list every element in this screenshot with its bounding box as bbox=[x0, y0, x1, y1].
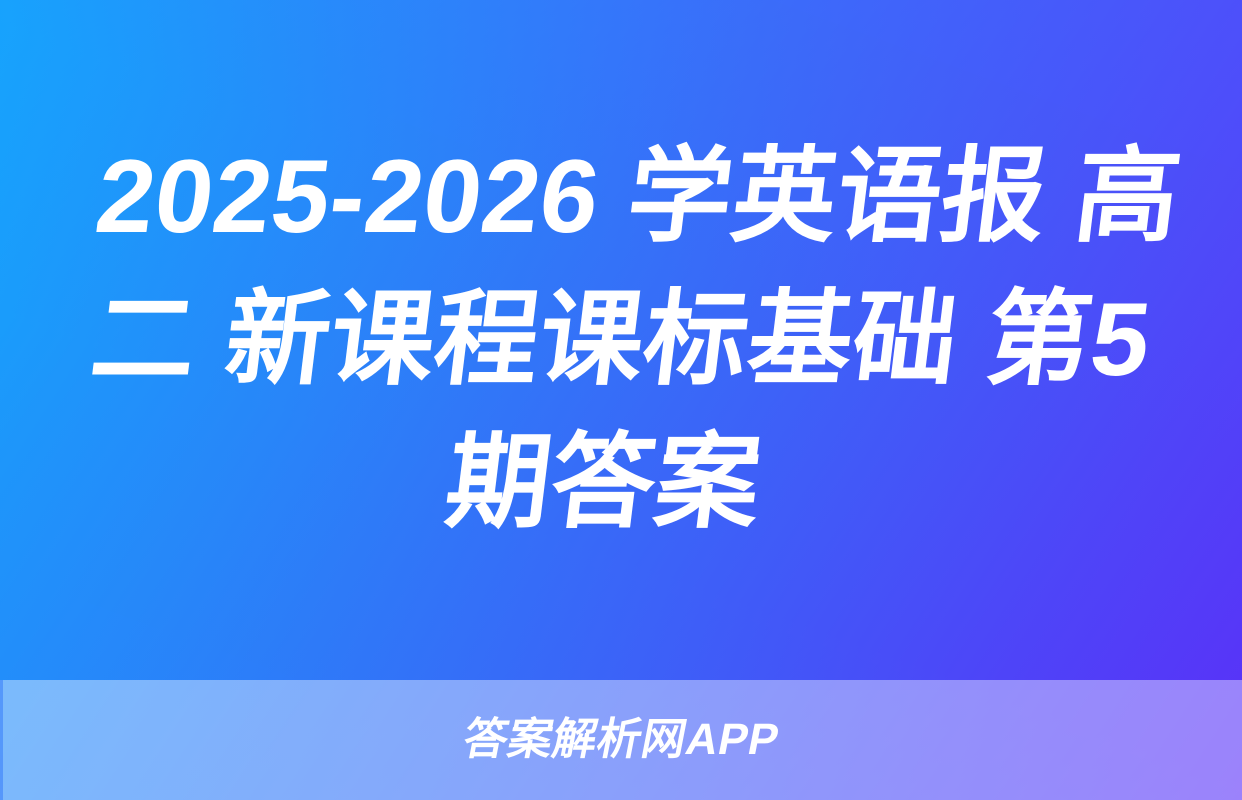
app-brand-watermark: 答案解析网APP bbox=[459, 718, 782, 762]
footer-brand-band: 答案解析网APP bbox=[0, 680, 1242, 800]
footer-left-edge-accent bbox=[0, 680, 3, 800]
headline-container: 2025-2026 学英语报 高二 新课程课标基础 第5期答案 bbox=[0, 0, 1242, 680]
poster-canvas: 2025-2026 学英语报 高二 新课程课标基础 第5期答案 答案解析网APP bbox=[0, 0, 1242, 800]
page-title: 2025-2026 学英语报 高二 新课程课标基础 第5期答案 bbox=[30, 126, 1213, 555]
